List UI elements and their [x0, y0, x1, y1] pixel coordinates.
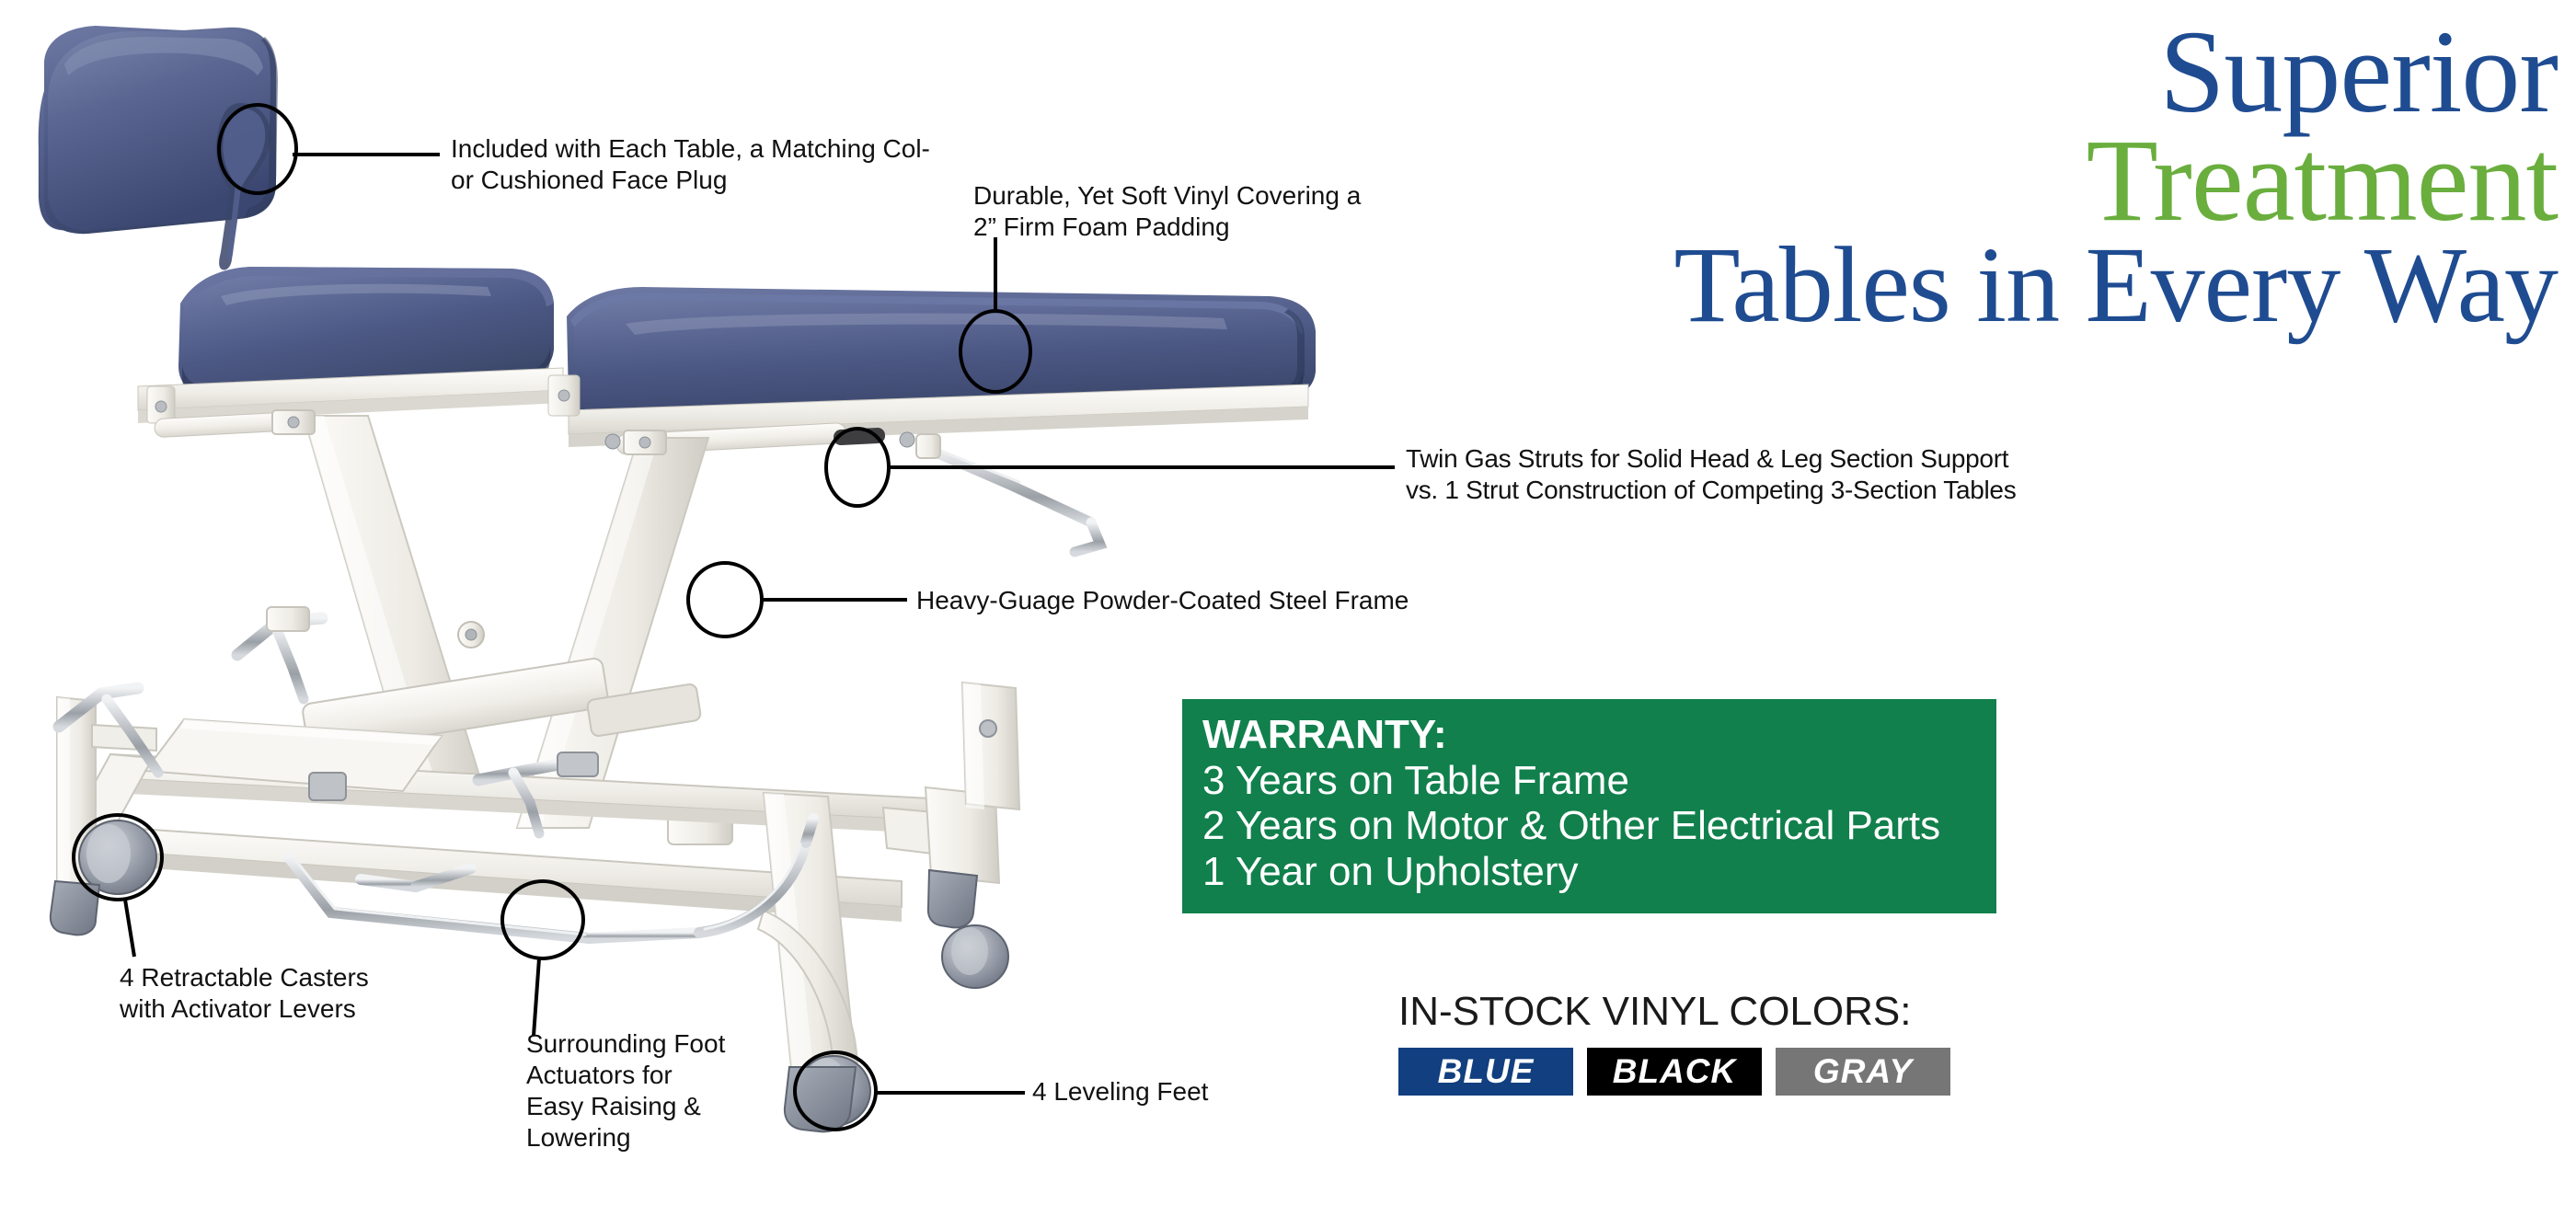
section-release-lever: [916, 434, 1100, 552]
vinyl-swatch-black[interactable]: BLACK: [1587, 1048, 1762, 1096]
callout-casters: 4 Retractable Casters with Activator Lev…: [120, 962, 369, 1025]
warranty-panel: WARRANTY: 3 Years on Table Frame 2 Years…: [1182, 699, 1996, 913]
headline-line-1: Superior: [1674, 18, 2559, 127]
headline: Superior Treatment Tables in Every Way: [1674, 18, 2559, 335]
marketing-graphic: Superior Treatment Tables in Every Way: [0, 0, 2576, 1205]
headline-line-2: Treatment: [1674, 127, 2559, 235]
callout-face-plug: Included with Each Table, a Matching Col…: [451, 133, 930, 196]
callout-gas-struts: Twin Gas Struts for Solid Head & Leg Sec…: [1406, 443, 2016, 506]
vinyl-swatch-gray[interactable]: GRAY: [1776, 1048, 1950, 1096]
callout-foot-actuators: Surrounding Foot Actuators for Easy Rais…: [526, 1028, 725, 1154]
callout-vinyl-padding: Durable, Yet Soft Vinyl Covering a 2” Fi…: [973, 180, 1361, 243]
callout-leveling-feet: 4 Leveling Feet: [1032, 1076, 1208, 1107]
vinyl-colors-heading: IN-STOCK VINYL COLORS:: [1398, 989, 1950, 1035]
vinyl-swatch-blue[interactable]: BLUE: [1398, 1048, 1573, 1096]
vinyl-swatch-row: BLUE BLACK GRAY: [1398, 1048, 1950, 1096]
warranty-item-motor: 2 Years on Motor & Other Electrical Part…: [1202, 803, 1976, 849]
headline-line-3: Tables in Every Way: [1674, 235, 2559, 336]
vinyl-colors-section: IN-STOCK VINYL COLORS: BLUE BLACK GRAY: [1398, 989, 1950, 1096]
warranty-item-frame: 3 Years on Table Frame: [1202, 758, 1976, 804]
warranty-title: WARRANTY:: [1202, 712, 1976, 758]
head-section-upholstery: [39, 26, 278, 270]
callout-steel-frame: Heavy-Guage Powder-Coated Steel Frame: [916, 585, 1409, 616]
warranty-item-upholstery: 1 Year on Upholstery: [1202, 849, 1976, 895]
